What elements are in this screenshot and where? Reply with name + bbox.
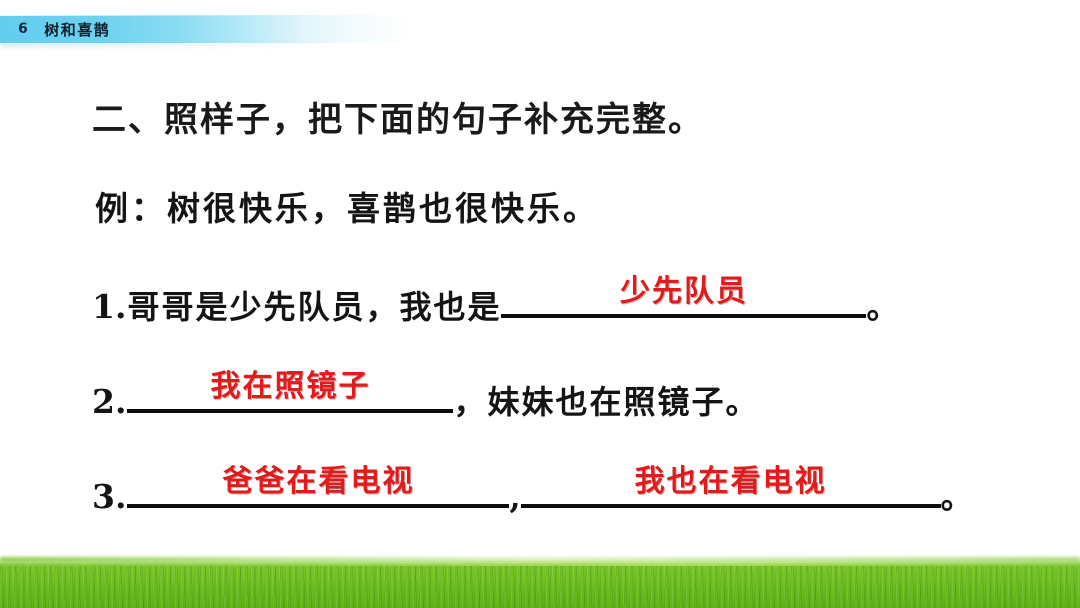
item-1-answer-blank[interactable]: 少先队员 — [501, 284, 866, 318]
item-1-number: 1. — [92, 287, 126, 326]
example-line: 例：树很快乐，喜鹊也很快乐。 — [95, 182, 599, 230]
exercise-item-1: 1. 哥哥是少先队员，我也是 少先队员 。 — [92, 282, 898, 344]
slide-canvas: 6 树和喜鹊 二、照样子，把下面的句子补充完整。 例：树很快乐，喜鹊也很快乐。 … — [0, 0, 1080, 608]
grass-field-image — [0, 566, 1080, 608]
lesson-number: 6 — [18, 21, 28, 37]
exercise-item-2: 2. 我在照镜子 ，妹妹也在照镜子。 — [92, 377, 759, 439]
lesson-title: 树和喜鹊 — [44, 19, 110, 40]
item-3-answer-text-second: 我也在看电视 — [635, 456, 827, 500]
item-2-suffix: ，妹妹也在照镜子。 — [453, 377, 759, 423]
exercise-item-3: 3. 爸爸在看电视 , 我也在看电视 。 — [92, 472, 973, 534]
item-2-answer-text: 我在照镜子 — [210, 361, 370, 405]
item-3-middle-punct: , — [509, 478, 520, 516]
lesson-header: 6 树和喜鹊 — [0, 15, 110, 43]
example-sentence: 树很快乐，喜鹊也很快乐。 — [167, 189, 599, 228]
exercise-heading: 二、照样子，把下面的句子补充完整。 — [92, 92, 704, 141]
exercise-content: 二、照样子，把下面的句子补充完整。 例：树很快乐，喜鹊也很快乐。 1. 哥哥是少… — [0, 0, 1080, 608]
item-3-answer-text-first: 爸爸在看电视 — [222, 456, 414, 500]
item-3-answer-blank-first[interactable]: 爸爸在看电视 — [127, 474, 509, 508]
item-1-prefix: 哥哥是少先队员，我也是 — [127, 282, 501, 328]
item-3-number: 3. — [92, 477, 126, 516]
item-2-number: 2. — [92, 382, 126, 421]
example-label: 例： — [95, 189, 167, 228]
item-3-end-punct: 。 — [941, 472, 973, 518]
item-2-answer-blank[interactable]: 我在照镜子 — [127, 379, 453, 413]
item-1-end-punct: 。 — [866, 282, 898, 328]
item-1-answer-text: 少先队员 — [620, 266, 748, 310]
item-3-answer-blank-second[interactable]: 我也在看电视 — [521, 474, 941, 508]
